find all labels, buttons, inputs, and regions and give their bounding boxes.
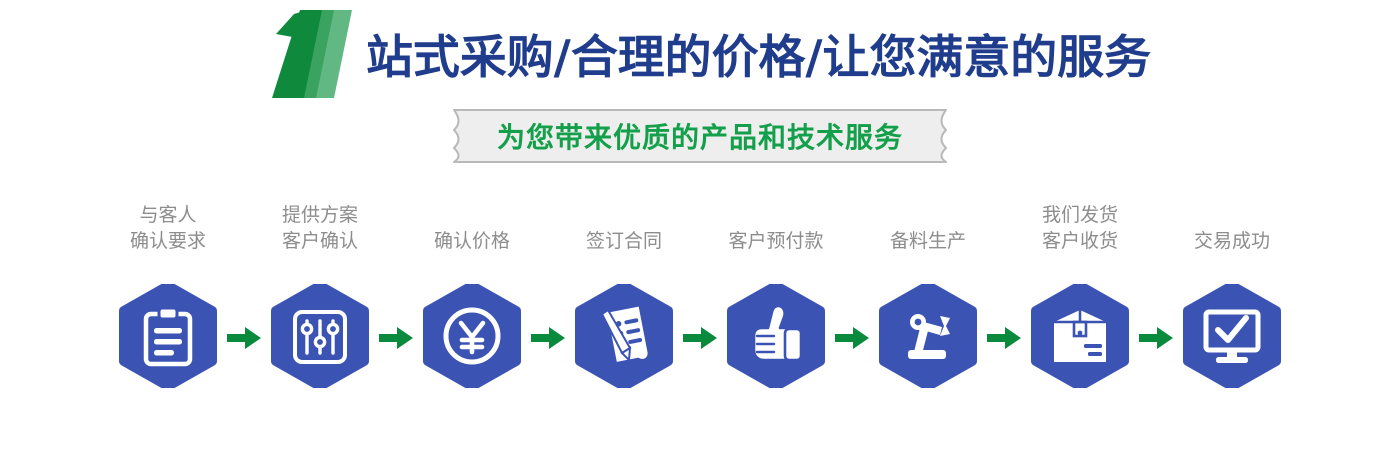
step-8[interactable]: 交易成功 — [1177, 196, 1287, 388]
sliders-settings-icon — [268, 284, 372, 388]
subtitle-banner: 为您带来优质的产品和技术服务 — [440, 108, 960, 164]
contract-signing-icon — [572, 284, 676, 388]
arrow-right-icon — [835, 326, 869, 350]
step-3-hexagon[interactable] — [420, 284, 524, 388]
step-5-label: 客户预付款 — [728, 196, 823, 254]
step-6-label: 备料生产 — [890, 196, 966, 254]
connector-3 — [527, 196, 569, 350]
step-6[interactable]: 备料生产 — [873, 196, 983, 388]
step-5-label-line1: 客户预付款 — [728, 228, 823, 254]
step-6-hexagon[interactable] — [876, 284, 980, 388]
step-4-hexagon[interactable] — [572, 284, 676, 388]
step-2-label: 提供方案 客户确认 — [282, 196, 358, 254]
arrow-right-icon — [531, 326, 565, 350]
monitor-check-icon — [1180, 284, 1284, 388]
subtitle-banner-wrap: 为您带来优质的产品和技术服务 — [0, 108, 1400, 164]
step-3-label: 确认价格 — [434, 196, 510, 254]
step-8-label-line1: 交易成功 — [1194, 228, 1270, 254]
step-1-label: 与客人 确认要求 — [130, 196, 206, 254]
arrow-right-icon — [987, 326, 1021, 350]
process-flow: 与客人 确认要求 提供方案 客户 — [0, 196, 1400, 388]
page-headline: 站式采购/合理的价格/让您满意的服务 — [366, 34, 1151, 80]
header: 站式采购/合理的价格/让您满意的服务 — [0, 8, 1400, 100]
step-2[interactable]: 提供方案 客户确认 — [265, 196, 375, 388]
connector-5 — [831, 196, 873, 350]
step-5-hexagon[interactable] — [724, 284, 828, 388]
step-7-hexagon[interactable] — [1028, 284, 1132, 388]
subtitle-text: 为您带来优质的产品和技术服务 — [497, 116, 903, 156]
step-4-label: 签订合同 — [586, 196, 662, 254]
step-1[interactable]: 与客人 确认要求 — [113, 196, 223, 388]
step-1-hexagon[interactable] — [116, 284, 220, 388]
step-7-label: 我们发货 客户收货 — [1042, 196, 1118, 254]
clipboard-icon — [116, 284, 220, 388]
step-7-label-line1: 我们发货 — [1042, 202, 1118, 228]
step-2-label-line2: 客户确认 — [282, 228, 358, 254]
step-3-label-line1: 确认价格 — [434, 228, 510, 254]
robot-arm-icon — [876, 284, 980, 388]
connector-2 — [375, 196, 417, 350]
package-box-icon — [1028, 284, 1132, 388]
number-one-badge — [264, 8, 360, 100]
step-1-label-line1: 与客人 — [130, 202, 206, 228]
connector-7 — [1135, 196, 1177, 350]
step-8-label: 交易成功 — [1194, 196, 1270, 254]
step-2-hexagon[interactable] — [268, 284, 372, 388]
arrow-right-icon — [379, 326, 413, 350]
step-6-label-line1: 备料生产 — [890, 228, 966, 254]
connector-1 — [223, 196, 265, 350]
yuan-coin-icon — [420, 284, 524, 388]
step-7-label-line2: 客户收货 — [1042, 228, 1118, 254]
arrow-right-icon — [227, 326, 261, 350]
step-1-label-line2: 确认要求 — [130, 228, 206, 254]
step-5[interactable]: 客户预付款 — [721, 196, 831, 388]
number-one-icon — [264, 8, 360, 100]
step-7[interactable]: 我们发货 客户收货 — [1025, 196, 1135, 388]
thumbs-up-icon — [724, 284, 828, 388]
connector-6 — [983, 196, 1025, 350]
arrow-right-icon — [683, 326, 717, 350]
arrow-right-icon — [1139, 326, 1173, 350]
step-2-label-line1: 提供方案 — [282, 202, 358, 228]
step-4-label-line1: 签订合同 — [586, 228, 662, 254]
step-8-hexagon[interactable] — [1180, 284, 1284, 388]
step-3[interactable]: 确认价格 — [417, 196, 527, 388]
connector-4 — [679, 196, 721, 350]
step-4[interactable]: 签订合同 — [569, 196, 679, 388]
